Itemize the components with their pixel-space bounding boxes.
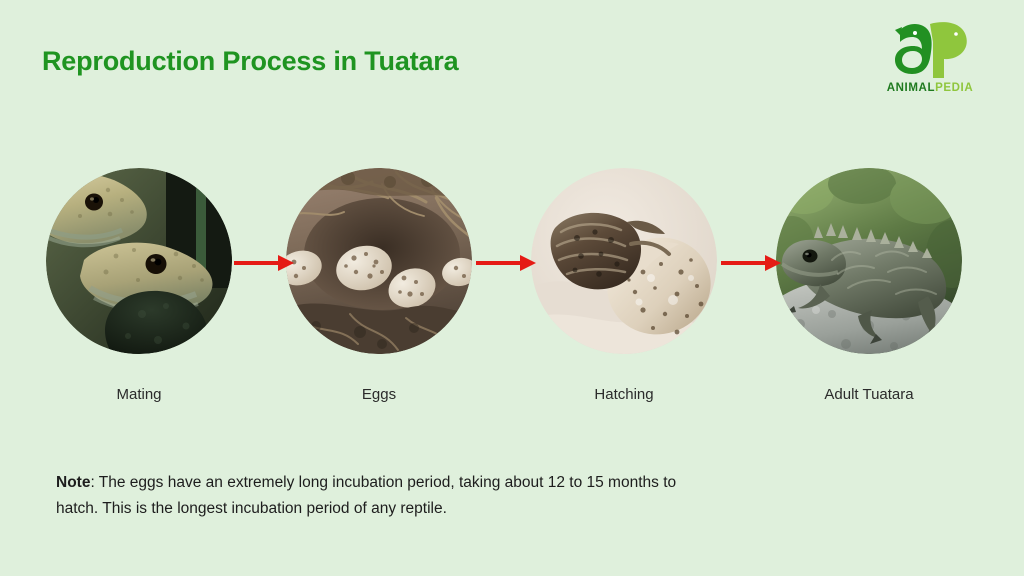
slide-root: Reproduction Process in Tuatara ANIMALPE… <box>0 0 1024 576</box>
stage-label-eggs: Eggs <box>266 386 492 403</box>
stage-label-adult-tuatara: Adult Tuatara <box>756 386 982 403</box>
note-separator: : <box>90 474 98 491</box>
stage-eggs: Eggs <box>286 168 472 354</box>
arrow-mating-to-eggs <box>234 252 294 274</box>
stage-label-mating: Mating <box>26 386 252 403</box>
stage-image-eggs <box>286 168 472 354</box>
stage-image-mating <box>46 168 232 354</box>
stage-adult-tuatara: Adult Tuatara <box>776 168 962 354</box>
note-block: Note: The eggs have an extremely long in… <box>56 470 716 522</box>
arrow-eggs-to-hatching <box>476 252 536 274</box>
stage-hatching: Hatching <box>531 168 717 354</box>
stage-image-adult-tuatara <box>776 168 962 354</box>
stage-image-hatching <box>531 168 717 354</box>
stage-mating: Mating <box>46 168 232 354</box>
note-text: The eggs have an extremely long incubati… <box>56 474 676 517</box>
stage-label-hatching: Hatching <box>511 386 737 403</box>
note-label: Note <box>56 474 90 491</box>
arrow-hatching-to-adult <box>721 252 781 274</box>
